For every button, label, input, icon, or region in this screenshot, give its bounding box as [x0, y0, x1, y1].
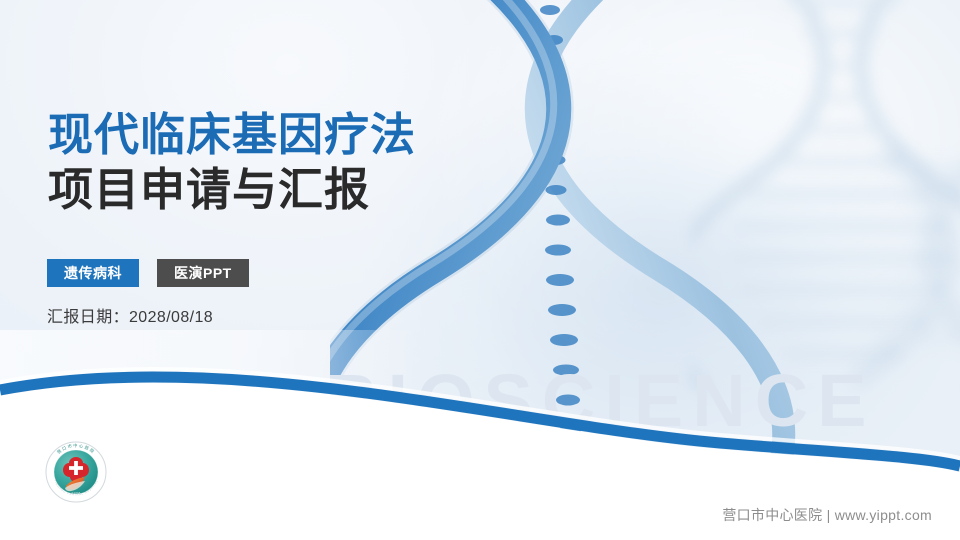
hospital-logo-icon: 营口市中心医院 YINGKOU CENTRAL HOSPITAL: [45, 441, 107, 503]
report-date: 汇报日期：2028/08/18: [47, 303, 213, 327]
svg-text:1906: 1906: [71, 492, 81, 496]
badge-source: 医演PPT: [157, 259, 249, 287]
badge-group: 遗传病科 医演PPT: [47, 259, 249, 287]
title-line-secondary: 项目申请与汇报: [48, 163, 416, 216]
title-slide: BIOSCIENCE 现代临床基因疗法 项目申请与汇报 遗传病科 医演PPT 汇…: [0, 0, 960, 540]
title-line-primary: 现代临床基因疗法: [48, 108, 416, 161]
badge-department: 遗传病科: [47, 259, 139, 287]
page-title: 现代临床基因疗法 项目申请与汇报: [48, 108, 416, 216]
footer-credit: 营口市中心医院 | www.yippt.com: [722, 505, 932, 525]
